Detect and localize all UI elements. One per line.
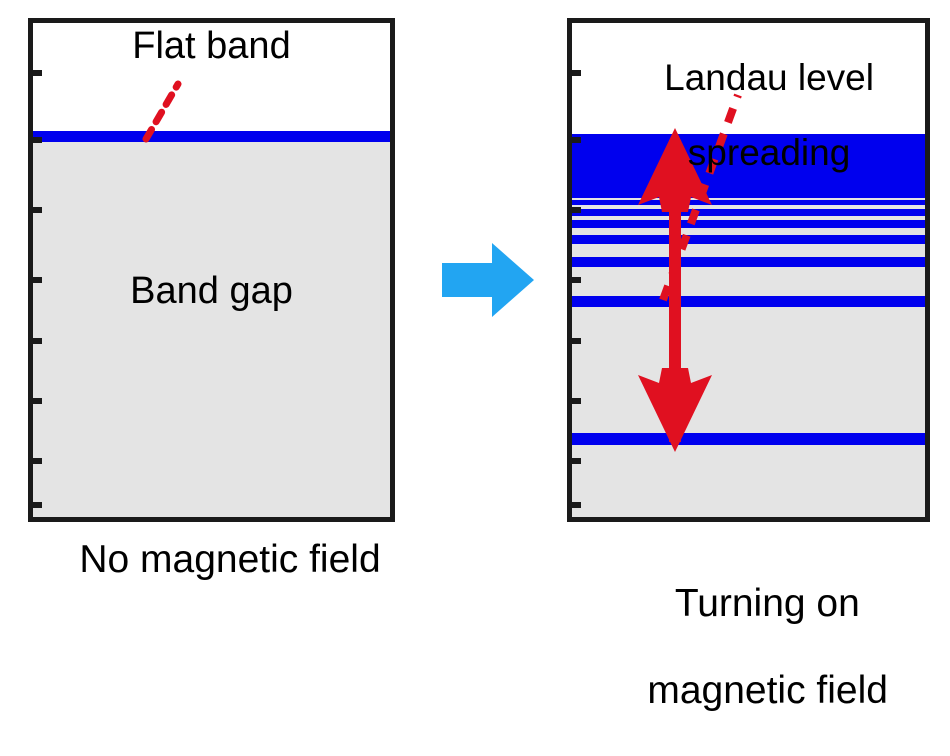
axis-tick [33, 70, 42, 76]
landau-level [572, 235, 925, 244]
left-panel-caption: No magnetic field [0, 540, 460, 580]
landau-level [572, 257, 925, 267]
band-gap-label: Band gap [28, 272, 395, 311]
axis-tick [33, 458, 42, 464]
axis-tick [33, 398, 42, 404]
figure-canvas: Flat band Band gap Landau level spreadin… [0, 0, 950, 631]
landau-label-line-2: spreading [688, 132, 851, 173]
axis-tick [572, 502, 581, 508]
left-band-gap-fill [33, 141, 390, 517]
right-caption-line-2: magnetic field [647, 669, 888, 712]
landau-level [572, 296, 925, 307]
axis-tick [572, 277, 581, 283]
landau-level [572, 433, 925, 445]
axis-tick [33, 137, 42, 143]
flat-band-label: Flat band [28, 27, 395, 66]
axis-tick [572, 338, 581, 344]
landau-level [572, 220, 925, 228]
landau-label-line-1: Landau level [664, 57, 874, 98]
flat-band-level [33, 131, 390, 142]
axis-tick [33, 207, 42, 213]
landau-level-spreading-label: Landau level spreading [567, 21, 930, 210]
axis-tick [572, 398, 581, 404]
right-panel-caption: Turning on magnetic field [540, 538, 950, 756]
axis-tick [33, 338, 42, 344]
right-caption-line-1: Turning on [675, 582, 860, 625]
transition-arrow-icon [442, 243, 534, 317]
axis-tick [572, 458, 581, 464]
axis-tick [33, 502, 42, 508]
